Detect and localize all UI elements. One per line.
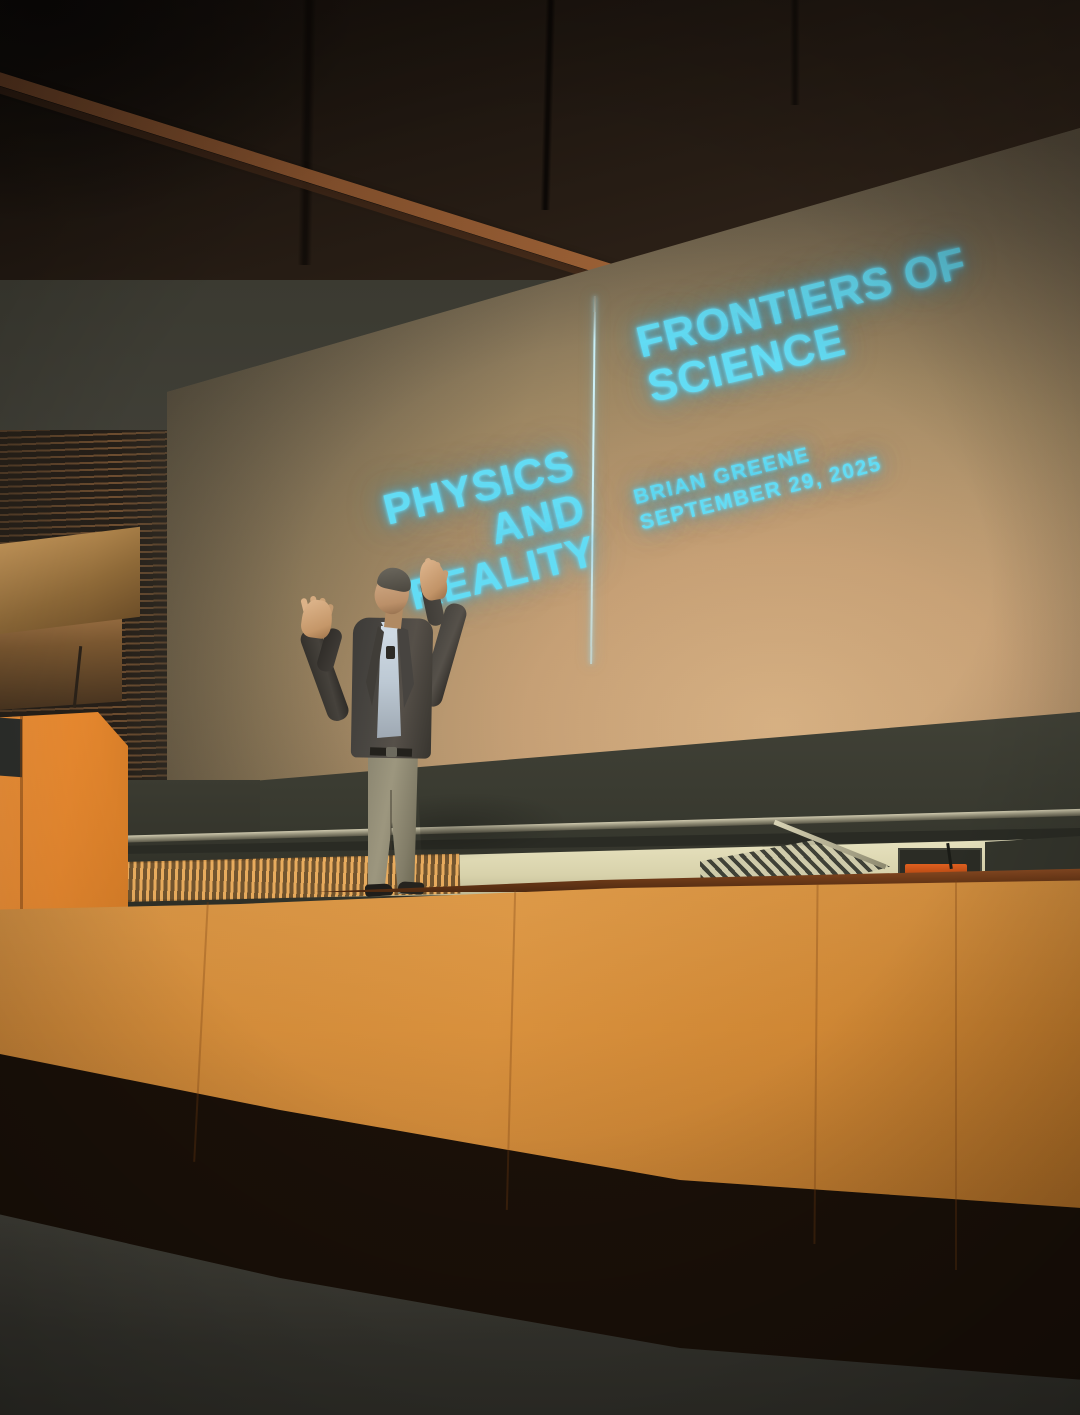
speaker-lapel-mic bbox=[386, 646, 395, 659]
speaker-shadow bbox=[418, 786, 571, 864]
speaker bbox=[0, 0, 1080, 1415]
speaker-belt-buckle bbox=[386, 747, 397, 757]
stage-wall-seam bbox=[955, 880, 957, 1270]
speaker-trouser-seam bbox=[390, 790, 392, 890]
speaker-trousers bbox=[366, 752, 418, 894]
lecture-hall-photo: PHYSICS AND REALITY FRONTIERS OF SCIENCE… bbox=[0, 0, 1080, 1415]
